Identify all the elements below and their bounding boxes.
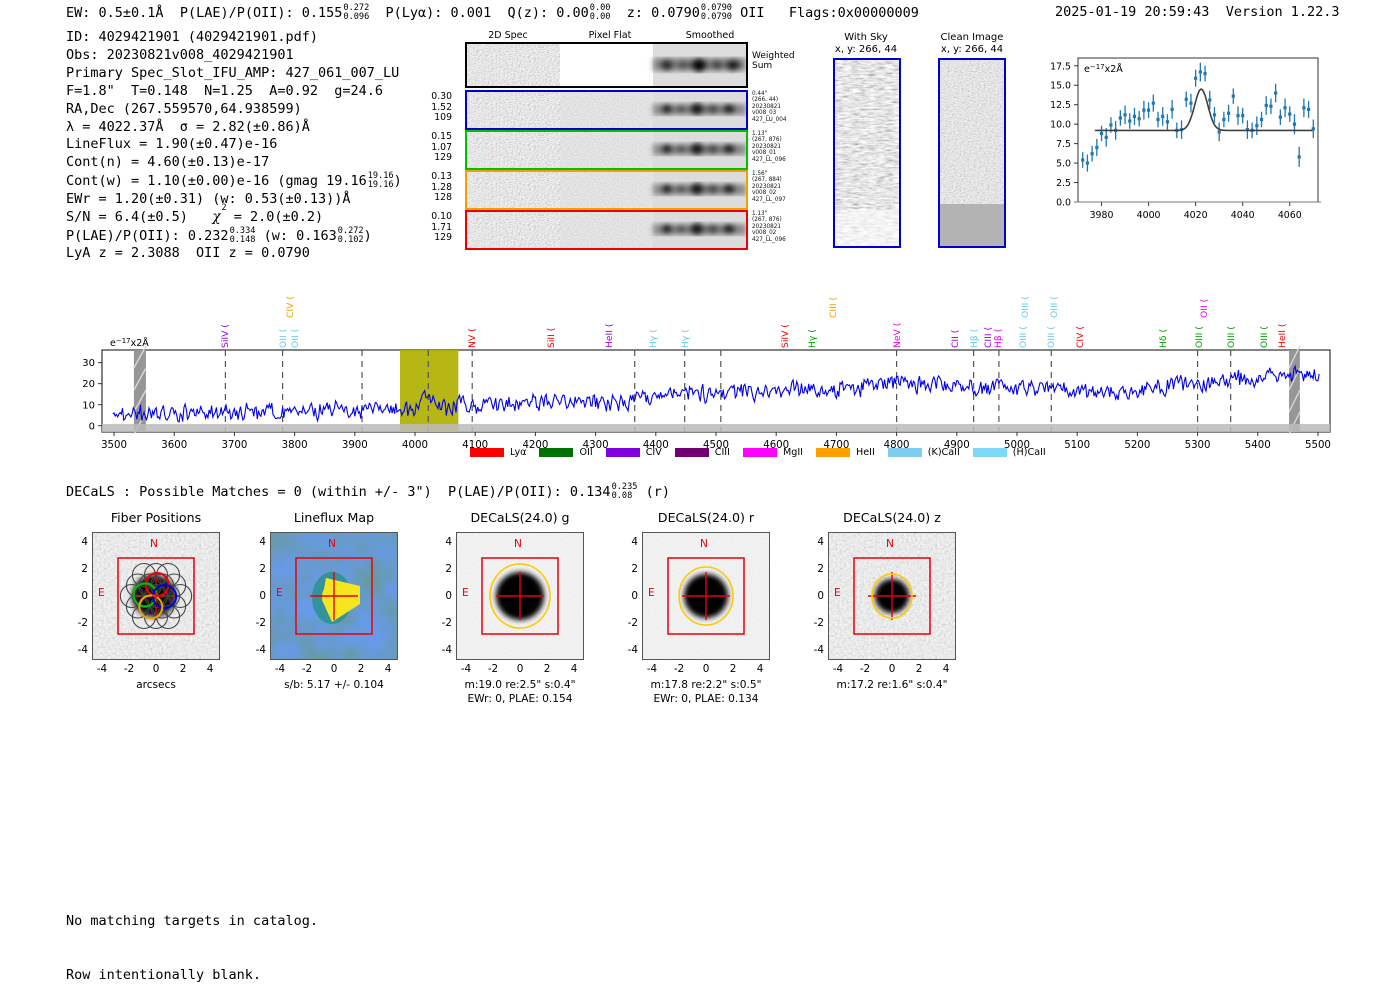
decals-panel-row: Fiber PositionsNE420-2-4-4-2024arcsecsLi… — [0, 510, 1400, 725]
decals-panel-image[interactable] — [642, 532, 770, 660]
compass-east-label: E — [648, 587, 655, 599]
decals-ytick: 0 — [432, 590, 452, 602]
emission-label-oii: OII ( — [290, 308, 301, 348]
header-timestamp: 2025-01-19 20:59:43 — [1055, 4, 1209, 20]
lineplot-ytick: 7.5 — [1056, 139, 1071, 150]
fullspec-xtick: 3900 — [342, 440, 368, 451]
decals-ytick: -2 — [68, 617, 88, 629]
header-qz-value: 0.00 — [556, 5, 589, 21]
fiber-metadata-line: (267, 884) — [752, 177, 786, 183]
fullspec-xtick: 5300 — [1185, 440, 1211, 451]
emission-label-siiv: SiIV ( — [780, 308, 791, 348]
cutout-title-with-sky: With Sky x, y: 266, 44 — [818, 32, 914, 56]
info-plae-w-range: 0.2720.102 — [338, 227, 364, 245]
header-z-range: 0.07900.0790 — [701, 4, 732, 22]
decals-ytick: -4 — [68, 644, 88, 656]
source-info-block: ID: 4029421901 (4029421901.pdf)Obs: 2023… — [66, 29, 402, 263]
footer-line-1: No matching targets in catalog. — [66, 912, 318, 930]
decals-caption-1: s/b: 5.17 +/- 0.104 — [244, 679, 424, 693]
header-plae-poii-value: 0.155 — [302, 5, 343, 21]
compass-east-label: E — [462, 587, 469, 599]
legend-item: OII — [539, 447, 592, 458]
header-qz-range: 0.000.00 — [590, 4, 611, 22]
legend-swatch — [816, 448, 850, 457]
header-z-value: 0.0790 — [651, 5, 700, 21]
emission-label-oiii: OIII ( — [1020, 278, 1031, 318]
decals-panel-image[interactable] — [456, 532, 584, 660]
legend-label: Lyα — [510, 447, 526, 458]
fiber-2d-image — [467, 212, 746, 248]
decals-xlabel: arcsecs — [66, 679, 246, 693]
legend-item: CIV — [606, 447, 662, 458]
weighted-sum-image — [467, 44, 746, 86]
emission-line-legend: LyαOIICIVCIIIMgIIHeII(K)CaII(H)CaII — [470, 447, 1059, 458]
header-z-type: OII — [740, 5, 764, 21]
legend-item: Lyα — [470, 447, 526, 458]
emission-label-siiv: SiIV ( — [220, 308, 231, 348]
emission-label-oiii: OIII ( — [1049, 278, 1060, 318]
compass-east-label: E — [276, 587, 283, 599]
compass-north-label: N — [150, 538, 158, 550]
weighted-sum-label: Weighted Sum — [752, 51, 795, 71]
decals-ytick: -4 — [804, 644, 824, 656]
fiber-weight-value: 0.10 — [412, 212, 452, 223]
decals-panel: Lineflux MapNE420-2-4-4-2024s/b: 5.17 +/… — [244, 510, 424, 725]
lineplot-ytick: 12.5 — [1050, 100, 1071, 111]
emission-line-zoom-svg: 0.02.55.07.510.012.515.017.5 39804000402… — [1030, 52, 1325, 237]
footer-note: No matching targets in catalog. Row inte… — [66, 876, 318, 1002]
decals-xtick: -4 — [828, 663, 848, 675]
fullspec-ytick: 0 — [89, 421, 95, 432]
legend-label: MgII — [783, 447, 803, 458]
emission-label-heii: HeII ( — [1277, 308, 1288, 348]
emission-label-hδ: Hδ ( — [1158, 308, 1169, 348]
decals-xtick: 0 — [882, 663, 902, 675]
legend-label: OII — [579, 447, 592, 458]
col-title-2d-spec: 2D Spec — [458, 30, 558, 41]
legend-label: CIII — [715, 447, 730, 458]
decals-xtick: 2 — [173, 663, 193, 675]
emission-label-cii: CII ( — [950, 308, 961, 348]
col-title-smoothed: Smoothed — [660, 30, 760, 41]
decals-caption-2: EWr: 0, PLAE: 0.134 — [616, 693, 796, 707]
footer-line-2: Row intentionally blank. — [66, 966, 318, 984]
legend-item: MgII — [743, 447, 803, 458]
decals-xtick: -2 — [669, 663, 689, 675]
emission-label-nv: NV ( — [467, 308, 478, 348]
full-spectrum-svg: 0102030 35003600370038003900400041004200… — [66, 272, 1336, 462]
decals-ytick: 2 — [618, 563, 638, 575]
fullspec-ytick: 20 — [82, 379, 95, 390]
compass-east-label: E — [98, 587, 105, 599]
emission-label-hγ: Hγ ( — [807, 308, 818, 348]
info-spec-slot: Primary Spec_Slot_IFU_AMP: 427_061_007_L… — [66, 65, 402, 83]
lineplot-ytick: 10.0 — [1050, 120, 1071, 131]
decals-panel: DECaLS(24.0) rNE420-2-4-4-2024m:17.8 re:… — [616, 510, 796, 725]
decals-xtick: 4 — [564, 663, 584, 675]
legend-swatch — [675, 448, 709, 457]
header-ew: EW: 0.5±0.1Å — [66, 5, 164, 21]
decals-xtick: 0 — [324, 663, 344, 675]
fiber-weight-value: 0.15 — [412, 132, 452, 143]
header-plae-poii-range: 0.2720.096 — [343, 4, 369, 22]
fullspec-xtick: 5100 — [1064, 440, 1090, 451]
legend-item: HeII — [816, 447, 875, 458]
legend-item: (K)CaII — [888, 447, 960, 458]
info-plae-range: 0.3340.148 — [230, 227, 256, 245]
decals-xtick: -2 — [297, 663, 317, 675]
emission-label-hγ: Hγ ( — [648, 308, 659, 348]
decals-ytick: -4 — [246, 644, 266, 656]
legend-label: CIV — [646, 447, 662, 458]
fiber-metadata-line: 427_LL_096 — [752, 157, 786, 163]
decals-ytick: 0 — [68, 590, 88, 602]
decals-xtick: 0 — [696, 663, 716, 675]
decals-xtick: -4 — [456, 663, 476, 675]
legend-label: (K)CaII — [928, 447, 960, 458]
chi-symbol: χ — [212, 209, 220, 225]
fiber-weight-value: 0.13 — [412, 172, 452, 183]
lineplot-xtick: 4000 — [1137, 210, 1161, 221]
decals-ytick: -4 — [618, 644, 638, 656]
cutout-clean-image — [938, 58, 1006, 248]
legend-swatch — [888, 448, 922, 457]
lineplot-ytick: 0.0 — [1056, 198, 1071, 209]
decals-xtick: 0 — [146, 663, 166, 675]
info-seeing: F=1.8" T=0.148 N=1.25 A=0.92 g=24.6 — [66, 83, 402, 101]
fiber-weight-value: 128 — [412, 193, 452, 204]
legend-label: (H)CaII — [1013, 447, 1046, 458]
fiber-row — [465, 170, 748, 210]
decals-caption-1: m:17.8 re:2.2" s:0.5" — [616, 679, 796, 693]
info-sn-chi2: S/N = 6.4(±0.5) χ2 = 2.0(±0.2) — [66, 209, 402, 227]
header-flags: Flags:0x00000009 — [789, 5, 919, 21]
emission-label-hβ: Hβ ( — [969, 308, 980, 348]
legend-swatch — [743, 448, 777, 457]
fullspec-ytick: 30 — [82, 358, 95, 369]
emission-label-heii: HeII ( — [604, 308, 615, 348]
decals-panel-title: DECaLS(24.0) z — [802, 510, 982, 525]
fiber-row — [465, 210, 748, 250]
lineplot-ytick: 17.5 — [1050, 61, 1071, 72]
decals-xtick: 2 — [909, 663, 929, 675]
info-obs: Obs: 20230821v008_4029421901 — [66, 47, 402, 65]
fiber-row — [465, 90, 748, 130]
info-lineflux: LineFlux = 1.90(±0.47)e-16 — [66, 136, 402, 154]
decals-ytick: 4 — [804, 536, 824, 548]
decals-caption-2: EWr: 0, PLAE: 0.154 — [430, 693, 610, 707]
decals-xtick: 2 — [723, 663, 743, 675]
fullspec-xtick: 5200 — [1124, 440, 1150, 451]
legend-swatch — [973, 448, 1007, 457]
decals-ytick: -2 — [804, 617, 824, 629]
info-lambda: λ = 4022.37Å σ = 2.82(±0.86)Å — [66, 119, 402, 137]
decals-ytick: -2 — [432, 617, 452, 629]
info-id: ID: 4029421901 (4029421901.pdf) — [66, 29, 402, 47]
decals-xtick: 4 — [936, 663, 956, 675]
decals-ytick: -2 — [246, 617, 266, 629]
fiber-weight-values: 0.101.71129 — [412, 212, 452, 244]
decals-ytick: 4 — [246, 536, 266, 548]
emission-label-oiii: OIII ( — [1259, 308, 1270, 348]
decals-ytick: 0 — [246, 590, 266, 602]
fullspec-annotation: e−17x2Å — [110, 337, 149, 349]
compass-north-label: N — [514, 538, 522, 550]
decals-panel-image[interactable] — [270, 532, 398, 660]
lineplot-ytick: 5.0 — [1056, 159, 1071, 170]
info-radec: RA,Dec (267.559570,64.938599) — [66, 101, 402, 119]
decals-ytick: -2 — [618, 617, 638, 629]
decals-panel: Fiber PositionsNE420-2-4-4-2024arcsecs — [66, 510, 246, 725]
legend-swatch — [606, 448, 640, 457]
col-title-pixel-flat: Pixel Flat — [560, 30, 660, 41]
lineplot-xtick: 3980 — [1090, 210, 1114, 221]
fiber-metadata: 0.44"(266, 44)20230821v008_03427_LU_004 — [752, 91, 786, 123]
lineplot-xtick: 4060 — [1278, 210, 1302, 221]
fullspec-xtick: 3800 — [282, 440, 308, 451]
decals-ytick: -4 — [432, 644, 452, 656]
lineplot-xtick: 4020 — [1184, 210, 1208, 221]
decals-panel-title: DECaLS(24.0) g — [430, 510, 610, 525]
fiber-metadata-line: 427_LL_097 — [752, 197, 786, 203]
info-redshifts: LyA z = 2.3088 OII z = 0.0790 — [66, 245, 402, 263]
header-plae-poii-label: P(LAE)/P(OII): — [180, 5, 294, 21]
decals-ytick: 2 — [68, 563, 88, 575]
fiber-weight-value: 129 — [412, 153, 452, 164]
fullspec-xtick: 4000 — [402, 440, 428, 451]
fiber-metadata: 1.56"(267, 884)20230821v008_02427_LL_097 — [752, 171, 786, 203]
emission-line-zoom-plot: 0.02.55.07.510.012.515.017.5 39804000402… — [1030, 52, 1325, 237]
decals-panel-image[interactable] — [828, 532, 956, 660]
decals-ytick: 4 — [68, 536, 88, 548]
emission-label-civ: CIV ( — [1075, 308, 1086, 348]
decals-xtick: -2 — [483, 663, 503, 675]
legend-item: CIII — [675, 447, 730, 458]
decals-xtick: -2 — [855, 663, 875, 675]
info-plae-poii: P(LAE)/P(OII): 0.2320.3340.148 (w: 0.163… — [66, 227, 402, 246]
decals-caption-1: m:17.2 re:1.6" s:0.4" — [802, 679, 982, 693]
info-cont-w: Cont(w) = 1.10(±0.00)e-16 (gmag 19.1619.… — [66, 172, 402, 191]
info-gmag-range: 19.1619.16 — [368, 172, 394, 190]
decals-xtick: 2 — [537, 663, 557, 675]
decals-ytick: 0 — [618, 590, 638, 602]
lineplot-ytick: 2.5 — [1056, 178, 1071, 189]
header-qz-label: Q(z): — [507, 5, 548, 21]
fullspec-xtick: 3500 — [101, 440, 127, 451]
decals-xtick: -4 — [92, 663, 112, 675]
decals-ytick: 2 — [432, 563, 452, 575]
fiber-weight-value: 129 — [412, 233, 452, 244]
fiber-metadata-line: 427_LL_096 — [752, 237, 786, 243]
fullspec-ytick: 10 — [82, 400, 95, 411]
legend-label: HeII — [856, 447, 875, 458]
compass-north-label: N — [700, 538, 708, 550]
header-plya: P(Lyα): 0.001 — [386, 5, 492, 21]
emission-label-hβ: Hβ ( — [993, 308, 1004, 348]
decals-ytick: 0 — [804, 590, 824, 602]
fiber-weight-value: 109 — [412, 113, 452, 124]
decals-xtick: 2 — [351, 663, 371, 675]
header-z-label: z: — [627, 5, 643, 21]
two-d-spectrum-panels: 2D Spec Pixel Flat Smoothed — [420, 30, 810, 250]
fullspec-xtick: 3700 — [221, 440, 247, 451]
fiber-2d-image — [467, 92, 746, 128]
decals-panel: DECaLS(24.0) zNE420-2-4-4-2024m:17.2 re:… — [802, 510, 982, 725]
decals-caption-1: m:19.0 re:2.5" s:0.4" — [430, 679, 610, 693]
fullspec-xtick: 3600 — [161, 440, 187, 451]
decals-xtick: 0 — [510, 663, 530, 675]
legend-swatch — [470, 448, 504, 457]
fiber-metadata-line: (267, 876) — [752, 217, 786, 223]
fullspec-xtick: 5400 — [1245, 440, 1271, 451]
fiber-metadata-line: (267, 876) — [752, 137, 786, 143]
fiber-weight-values: 0.131.28128 — [412, 172, 452, 204]
decals-plae-range: 0.2350.08 — [612, 483, 638, 501]
compass-north-label: N — [886, 538, 894, 550]
decals-panel: DECaLS(24.0) gNE420-2-4-4-2024m:19.0 re:… — [430, 510, 610, 725]
fiber-weight-value: 0.30 — [412, 92, 452, 103]
decals-ytick: 4 — [432, 536, 452, 548]
fiber-row — [465, 130, 748, 170]
fiber-metadata: 1.13"(267, 876)20230821v008_02427_LL_096 — [752, 211, 786, 243]
decals-ytick: 4 — [618, 536, 638, 548]
decals-ytick: 2 — [246, 563, 266, 575]
fiber-2d-image — [467, 172, 746, 208]
emission-label-oii: OII ( — [1199, 278, 1210, 318]
legend-swatch — [539, 448, 573, 457]
decals-xtick: 4 — [378, 663, 398, 675]
weighted-sum-row — [465, 42, 748, 88]
decals-xtick: -4 — [642, 663, 662, 675]
header-meta: 2025-01-19 20:59:43 Version 1.22.3 — [1055, 4, 1340, 20]
decals-panel-image[interactable] — [92, 532, 220, 660]
fiber-weight-values: 0.301.52109 — [412, 92, 452, 124]
decals-ytick: 2 — [804, 563, 824, 575]
emission-label-ciii: CIII ( — [828, 278, 839, 318]
header-version: Version 1.22.3 — [1226, 4, 1340, 20]
decals-panel-title: DECaLS(24.0) r — [616, 510, 796, 525]
decals-xtick: -4 — [270, 663, 290, 675]
decals-xtick: -2 — [119, 663, 139, 675]
compass-north-label: N — [328, 538, 336, 550]
decals-header: DECaLS : Possible Matches = 0 (within +/… — [66, 483, 670, 501]
decals-panel-title: Fiber Positions — [66, 510, 246, 525]
emission-label-nev: NeV ( — [892, 308, 903, 348]
header-summary-line: EW: 0.5±0.1Å P(LAE)/P(OII): 0.1550.2720.… — [66, 4, 919, 22]
legend-item: (H)CaII — [973, 447, 1046, 458]
full-spectrum-plot: 0102030 35003600370038003900400041004200… — [66, 272, 1336, 462]
decals-xtick: 4 — [750, 663, 770, 675]
decals-xtick: 4 — [200, 663, 220, 675]
emission-label-hγ: Hγ ( — [680, 308, 691, 348]
fiber-weight-values: 0.151.07129 — [412, 132, 452, 164]
fiber-metadata-line: 427_LU_004 — [752, 117, 786, 123]
lineplot-xtick: 4040 — [1231, 210, 1255, 221]
emission-label-oiii: OIII ( — [1226, 308, 1237, 348]
info-cont-n: Cont(n) = 4.60(±0.13)e-17 — [66, 154, 402, 172]
cutout-with-sky-image — [833, 58, 901, 248]
cutout-title-clean-image: Clean Image x, y: 266, 44 — [920, 32, 1024, 56]
fiber-metadata: 1.13"(267, 876)20230821v008_01427_LL_096 — [752, 131, 786, 163]
compass-east-label: E — [834, 587, 841, 599]
fiber-2d-image — [467, 132, 746, 168]
chi-exponent: 2 — [222, 205, 227, 213]
lineplot-ytick: 15.0 — [1050, 81, 1071, 92]
fullspec-xtick: 5500 — [1305, 440, 1331, 451]
emission-label-siii: SiII ( — [546, 308, 557, 348]
decals-panel-title: Lineflux Map — [244, 510, 424, 525]
info-ewr: EWr = 1.20(±0.31) (w: 0.53(±0.13))Å — [66, 191, 402, 209]
